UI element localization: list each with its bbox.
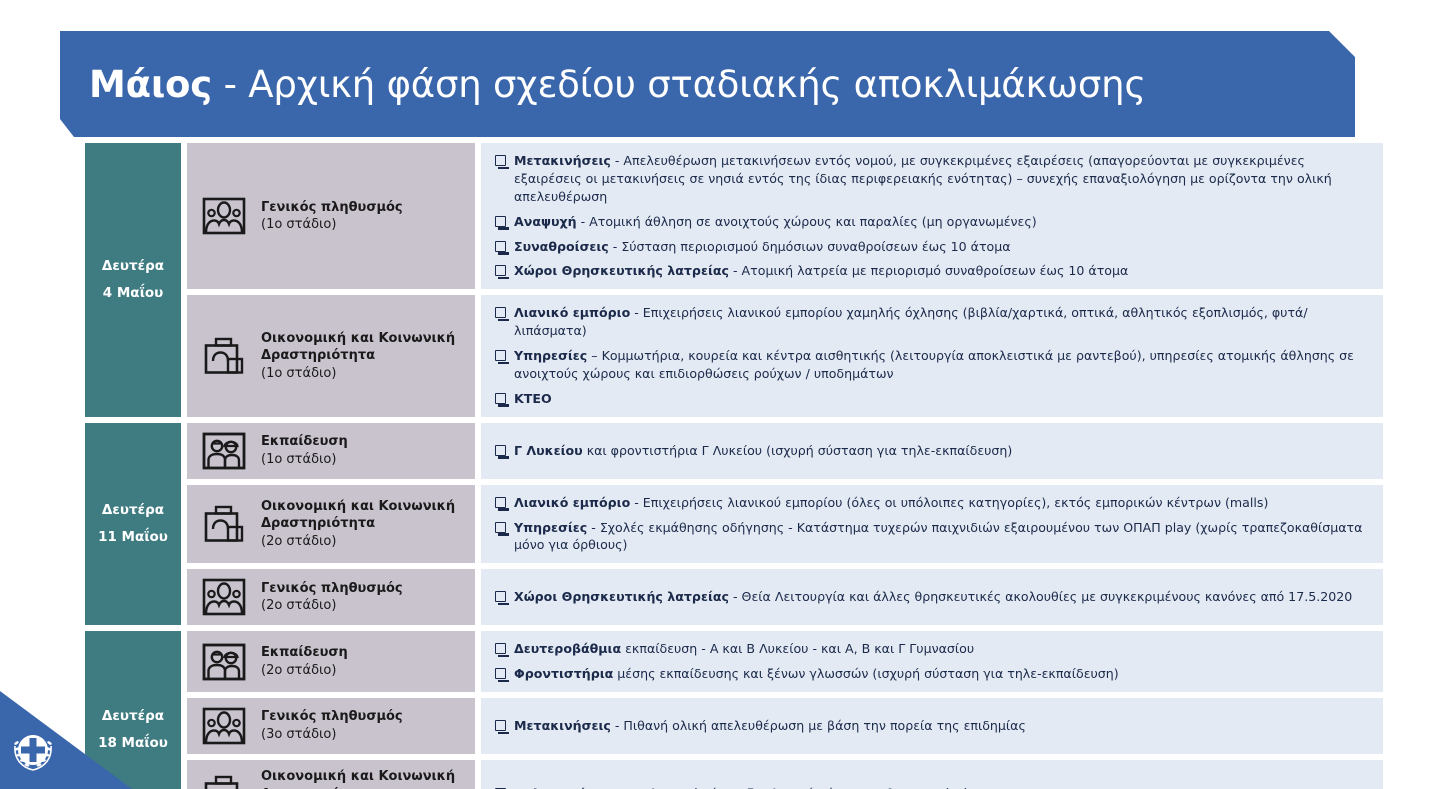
measure-bullet: Λιανικό εμπόριο - Επιχειρήσεις λιανικού … bbox=[495, 304, 1371, 340]
category-cell: Οικονομική και Κοινωνική Δραστηριότητα(2… bbox=[187, 485, 475, 564]
measure-bullet: Χώροι Θρησκευτικής λατρείας - Θεία Λειτο… bbox=[495, 588, 1371, 606]
date-day: 18 Μαΐου bbox=[98, 730, 168, 757]
measure-bullet: Φροντιστήρια μέσης εκπαίδευσης και ξένων… bbox=[495, 665, 1371, 683]
measure-bullet: ΚΤΕΟ bbox=[495, 390, 1371, 408]
measure-bullet-text: Φροντιστήρια μέσης εκπαίδευσης και ξένων… bbox=[514, 665, 1371, 683]
measure-row: Εκπαίδευση(1ο στάδιο)Γ Λυκείου και φροντ… bbox=[187, 423, 1383, 479]
measures-cell: Γ Λυκείου και φροντιστήρια Γ Λυκείου (ισ… bbox=[481, 423, 1383, 479]
category-cell: Οικονομική και Κοινωνική Δραστηριότητα(3… bbox=[187, 760, 475, 789]
category-title: Οικονομική και Κοινωνική Δραστηριότητα bbox=[261, 330, 465, 365]
category-title: Οικονομική και Κοινωνική Δραστηριότητα bbox=[261, 768, 465, 789]
measure-bullet-text: Υπηρεσίες – Κομμωτήρια, κουρεία και κέντ… bbox=[514, 347, 1371, 383]
measure-bullet-text: Υπηρεσίες - Σχολές εκμάθησης οδήγησης - … bbox=[514, 519, 1371, 555]
category-title: Οικονομική και Κοινωνική Δραστηριότητα bbox=[261, 498, 465, 533]
measure-bullet-text: Γ Λυκείου και φροντιστήρια Γ Λυκείου (ισ… bbox=[514, 442, 1371, 460]
measure-bullet: Χώροι Θρησκευτικής λατρείας - Ατομική λα… bbox=[495, 262, 1371, 280]
people-group-icon bbox=[201, 577, 247, 617]
measure-row: Οικονομική και Κοινωνική Δραστηριότητα(2… bbox=[187, 485, 1383, 564]
checkbox-square-icon bbox=[495, 350, 506, 361]
timeline-date-group: Δευτέρα18 ΜαΐουΕκπαίδευση(2ο στάδιο)Δευτ… bbox=[85, 631, 1383, 789]
measure-row: Οικονομική και Κοινωνική Δραστηριότητα(3… bbox=[187, 760, 1383, 789]
measure-bullet: Λιανικό εμπόριο - Επιχειρήσεις λιανικού … bbox=[495, 494, 1371, 512]
category-stage: (2ο στάδιο) bbox=[261, 597, 403, 615]
checkbox-square-icon bbox=[495, 241, 506, 252]
measure-bullet-detail: - Σχολές εκμάθησης οδήγησης - Κατάστημα … bbox=[514, 520, 1362, 553]
measure-bullet-lead: Γ Λυκείου bbox=[514, 443, 583, 458]
date-cell: Δευτέρα11 Μαΐου bbox=[85, 423, 181, 626]
category-stage: (1ο στάδιο) bbox=[261, 451, 348, 469]
category-stage: (2ο στάδιο) bbox=[261, 662, 348, 680]
date-day: 4 Μαΐου bbox=[103, 280, 163, 307]
briefcase-shop-icon bbox=[201, 774, 247, 789]
briefcase-shop-icon bbox=[201, 336, 247, 376]
category-text: Οικονομική και Κοινωνική Δραστηριότητα(3… bbox=[261, 768, 465, 789]
timeline-grid: Δευτέρα4 ΜαΐουΓενικός πληθυσμός(1ο στάδι… bbox=[85, 143, 1383, 789]
date-cell: Δευτέρα18 Μαΐου bbox=[85, 631, 181, 789]
measure-bullet-text: Μετακινήσεις - Πιθανή ολική απελευθέρωση… bbox=[514, 717, 1371, 735]
measure-bullet-text: Πολιτισμός - Αρχαιολογικοί χώροι, ζωολογ… bbox=[514, 785, 1371, 789]
measure-bullet-lead: Αναψυχή bbox=[514, 214, 577, 229]
measure-bullet-text: Λιανικό εμπόριο - Επιχειρήσεις λιανικού … bbox=[514, 494, 1371, 512]
measure-bullet: Συναθροίσεις - Σύσταση περιορισμού δημόσ… bbox=[495, 238, 1371, 256]
measure-bullet: Μετακινήσεις - Απελευθέρωση μετακινήσεων… bbox=[495, 152, 1371, 206]
measure-bullet-lead: Μετακινήσεις bbox=[514, 718, 611, 733]
slide-root: Μάιος - Αρχική φάση σχεδίου σταδιακής απ… bbox=[0, 0, 1431, 789]
category-title: Γενικός πληθυσμός bbox=[261, 580, 403, 598]
students-education-icon bbox=[201, 431, 247, 471]
measure-bullet: Πολιτισμός - Αρχαιολογικοί χώροι, ζωολογ… bbox=[495, 785, 1371, 789]
category-text: Γενικός πληθυσμός(3ο στάδιο) bbox=[261, 708, 403, 743]
measure-bullet: Γ Λυκείου και φροντιστήρια Γ Λυκείου (ισ… bbox=[495, 442, 1371, 460]
measure-bullet-lead: Χώροι Θρησκευτικής λατρείας bbox=[514, 263, 729, 278]
measure-bullet-detail: και φροντιστήρια Γ Λυκείου (ισχυρή σύστα… bbox=[583, 443, 1013, 458]
measure-bullet-detail: - Πιθανή ολική απελευθέρωση με βάση την … bbox=[611, 718, 1026, 733]
measure-bullet-lead: Συναθροίσεις bbox=[514, 239, 609, 254]
category-cell: Γενικός πληθυσμός(2ο στάδιο) bbox=[187, 569, 475, 625]
measure-row: Γενικός πληθυσμός(3ο στάδιο)Μετακινήσεις… bbox=[187, 698, 1383, 754]
measure-bullet: Αναψυχή - Ατομική άθληση σε ανοιχτούς χώ… bbox=[495, 213, 1371, 231]
measure-row: Εκπαίδευση(2ο στάδιο)Δευτεροβάθμια εκπαί… bbox=[187, 631, 1383, 692]
checkbox-square-icon bbox=[495, 445, 506, 456]
measure-bullet-detail: - Θεία Λειτουργία και άλλες θρησκευτικές… bbox=[729, 589, 1352, 604]
measure-bullet-detail: – Κομμωτήρια, κουρεία και κέντρα αισθητι… bbox=[514, 348, 1354, 381]
category-stage: (3ο στάδιο) bbox=[261, 726, 403, 744]
category-text: Γενικός πληθυσμός(2ο στάδιο) bbox=[261, 580, 403, 615]
category-text: Οικονομική και Κοινωνική Δραστηριότητα(2… bbox=[261, 498, 465, 551]
measure-bullet-text: Συναθροίσεις - Σύσταση περιορισμού δημόσ… bbox=[514, 238, 1371, 256]
category-stage: (2ο στάδιο) bbox=[261, 533, 465, 551]
checkbox-square-icon bbox=[495, 643, 506, 654]
measure-bullet: Μετακινήσεις - Πιθανή ολική απελευθέρωση… bbox=[495, 717, 1371, 735]
people-group-icon bbox=[201, 706, 247, 746]
category-text: Γενικός πληθυσμός(1ο στάδιο) bbox=[261, 199, 403, 234]
measure-bullet-lead: Λιανικό εμπόριο bbox=[514, 495, 630, 510]
measure-bullet: Υπηρεσίες - Σχολές εκμάθησης οδήγησης - … bbox=[495, 519, 1371, 555]
checkbox-square-icon bbox=[495, 393, 506, 404]
measures-cell: Μετακινήσεις - Πιθανή ολική απελευθέρωση… bbox=[481, 698, 1383, 754]
students-education-icon bbox=[201, 642, 247, 682]
slide-title-banner: Μάιος - Αρχική φάση σχεδίου σταδιακής απ… bbox=[60, 31, 1355, 137]
category-stage: (1ο στάδιο) bbox=[261, 365, 465, 383]
category-title: Γενικός πληθυσμός bbox=[261, 708, 403, 726]
measure-bullet-lead: Υπηρεσίες bbox=[514, 520, 587, 535]
measure-bullet-lead: Δευτεροβάθμια bbox=[514, 641, 621, 656]
date-day: 11 Μαΐου bbox=[98, 524, 168, 551]
measure-bullet-lead: Φροντιστήρια bbox=[514, 666, 613, 681]
date-weekday: Δευτέρα bbox=[102, 703, 164, 730]
category-title: Γενικός πληθυσμός bbox=[261, 199, 403, 217]
measure-bullet-text: Δευτεροβάθμια εκπαίδευση - Α και Β Λυκεί… bbox=[514, 640, 1371, 658]
measure-bullet-detail: - Επιχειρήσεις λιανικού εμπορίου (όλες ο… bbox=[630, 495, 1268, 510]
measures-cell: Λιανικό εμπόριο - Επιχειρήσεις λιανικού … bbox=[481, 485, 1383, 564]
timeline-date-group: Δευτέρα4 ΜαΐουΓενικός πληθυσμός(1ο στάδι… bbox=[85, 143, 1383, 417]
measure-bullet-text: ΚΤΕΟ bbox=[514, 390, 1371, 408]
date-weekday: Δευτέρα bbox=[102, 253, 164, 280]
category-text: Εκπαίδευση(1ο στάδιο) bbox=[261, 433, 348, 468]
category-text: Εκπαίδευση(2ο στάδιο) bbox=[261, 644, 348, 679]
date-group-rows: Εκπαίδευση(2ο στάδιο)Δευτεροβάθμια εκπαί… bbox=[187, 631, 1383, 789]
date-group-rows: Γενικός πληθυσμός(1ο στάδιο)Μετακινήσεις… bbox=[187, 143, 1383, 417]
measure-bullet-text: Λιανικό εμπόριο - Επιχειρήσεις λιανικού … bbox=[514, 304, 1371, 340]
page-title: Μάιος - Αρχική φάση σχεδίου σταδιακής απ… bbox=[60, 63, 1146, 106]
measure-bullet-detail: μέσης εκπαίδευσης και ξένων γλωσσών (ισχ… bbox=[613, 666, 1118, 681]
measure-bullet-detail: - Ατομική λατρεία με περιορισμό συναθροί… bbox=[729, 263, 1128, 278]
measure-bullet-lead: ΚΤΕΟ bbox=[514, 391, 552, 406]
checkbox-square-icon bbox=[495, 307, 506, 318]
measure-row: Γενικός πληθυσμός(1ο στάδιο)Μετακινήσεις… bbox=[187, 143, 1383, 289]
date-weekday: Δευτέρα bbox=[102, 497, 164, 524]
measure-bullet-text: Χώροι Θρησκευτικής λατρείας - Ατομική λα… bbox=[514, 262, 1371, 280]
measure-bullet-lead: Υπηρεσίες bbox=[514, 348, 587, 363]
people-group-icon bbox=[201, 196, 247, 236]
checkbox-square-icon bbox=[495, 591, 506, 602]
category-cell: Εκπαίδευση(2ο στάδιο) bbox=[187, 631, 475, 692]
measure-bullet-lead: Μετακινήσεις bbox=[514, 153, 611, 168]
measure-bullet-detail: - Επιχειρήσεις λιανικού εμπορίου χαμηλής… bbox=[514, 305, 1308, 338]
measure-bullet-detail: - Ατομική άθληση σε ανοιχτούς χώρους και… bbox=[577, 214, 1037, 229]
measure-bullet-text: Αναψυχή - Ατομική άθληση σε ανοιχτούς χώ… bbox=[514, 213, 1371, 231]
category-title: Εκπαίδευση bbox=[261, 644, 348, 662]
checkbox-square-icon bbox=[495, 265, 506, 276]
measures-cell: Δευτεροβάθμια εκπαίδευση - Α και Β Λυκεί… bbox=[481, 631, 1383, 692]
date-group-rows: Εκπαίδευση(1ο στάδιο)Γ Λυκείου και φροντ… bbox=[187, 423, 1383, 626]
measure-bullet-detail: - Απελευθέρωση μετακινήσεων εντός νομού,… bbox=[514, 153, 1332, 204]
page-title-rest: - Αρχική φάση σχεδίου σταδιακής αποκλιμά… bbox=[212, 63, 1146, 106]
category-cell: Οικονομική και Κοινωνική Δραστηριότητα(1… bbox=[187, 295, 475, 416]
category-text: Οικονομική και Κοινωνική Δραστηριότητα(1… bbox=[261, 330, 465, 383]
category-cell: Γενικός πληθυσμός(3ο στάδιο) bbox=[187, 698, 475, 754]
measure-bullet: Υπηρεσίες – Κομμωτήρια, κουρεία και κέντ… bbox=[495, 347, 1371, 383]
measure-bullet-lead: Χώροι Θρησκευτικής λατρείας bbox=[514, 589, 729, 604]
category-title: Εκπαίδευση bbox=[261, 433, 348, 451]
measure-row: Οικονομική και Κοινωνική Δραστηριότητα(1… bbox=[187, 295, 1383, 416]
category-cell: Γενικός πληθυσμός(1ο στάδιο) bbox=[187, 143, 475, 289]
measures-cell: Λιανικό εμπόριο - Επιχειρήσεις λιανικού … bbox=[481, 295, 1383, 416]
category-cell: Εκπαίδευση(1ο στάδιο) bbox=[187, 423, 475, 479]
checkbox-square-icon bbox=[495, 497, 506, 508]
category-stage: (1ο στάδιο) bbox=[261, 216, 403, 234]
checkbox-square-icon bbox=[495, 720, 506, 731]
checkbox-square-icon bbox=[495, 522, 506, 533]
greek-government-emblem-icon bbox=[8, 725, 58, 775]
measures-cell: Πολιτισμός - Αρχαιολογικοί χώροι, ζωολογ… bbox=[481, 760, 1383, 789]
briefcase-shop-icon bbox=[201, 504, 247, 544]
measure-bullet-text: Χώροι Θρησκευτικής λατρείας - Θεία Λειτο… bbox=[514, 588, 1371, 606]
timeline-date-group: Δευτέρα11 ΜαΐουΕκπαίδευση(1ο στάδιο)Γ Λυ… bbox=[85, 423, 1383, 626]
measures-cell: Μετακινήσεις - Απελευθέρωση μετακινήσεων… bbox=[481, 143, 1383, 289]
checkbox-square-icon bbox=[495, 668, 506, 679]
measure-bullet-lead: Λιανικό εμπόριο bbox=[514, 305, 630, 320]
checkbox-square-icon bbox=[495, 155, 506, 166]
measure-bullet-text: Μετακινήσεις - Απελευθέρωση μετακινήσεων… bbox=[514, 152, 1371, 206]
measures-cell: Χώροι Θρησκευτικής λατρείας - Θεία Λειτο… bbox=[481, 569, 1383, 625]
measure-bullet: Δευτεροβάθμια εκπαίδευση - Α και Β Λυκεί… bbox=[495, 640, 1371, 658]
measure-bullet-detail: εκπαίδευση - Α και Β Λυκείου - και Α, Β … bbox=[621, 641, 974, 656]
measure-bullet-detail: - Σύσταση περιορισμού δημόσιων συναθροίσ… bbox=[609, 239, 1011, 254]
date-cell: Δευτέρα4 Μαΐου bbox=[85, 143, 181, 417]
page-title-month: Μάιος bbox=[89, 63, 212, 106]
checkbox-square-icon bbox=[495, 216, 506, 227]
measure-row: Γενικός πληθυσμός(2ο στάδιο)Χώροι Θρησκε… bbox=[187, 569, 1383, 625]
